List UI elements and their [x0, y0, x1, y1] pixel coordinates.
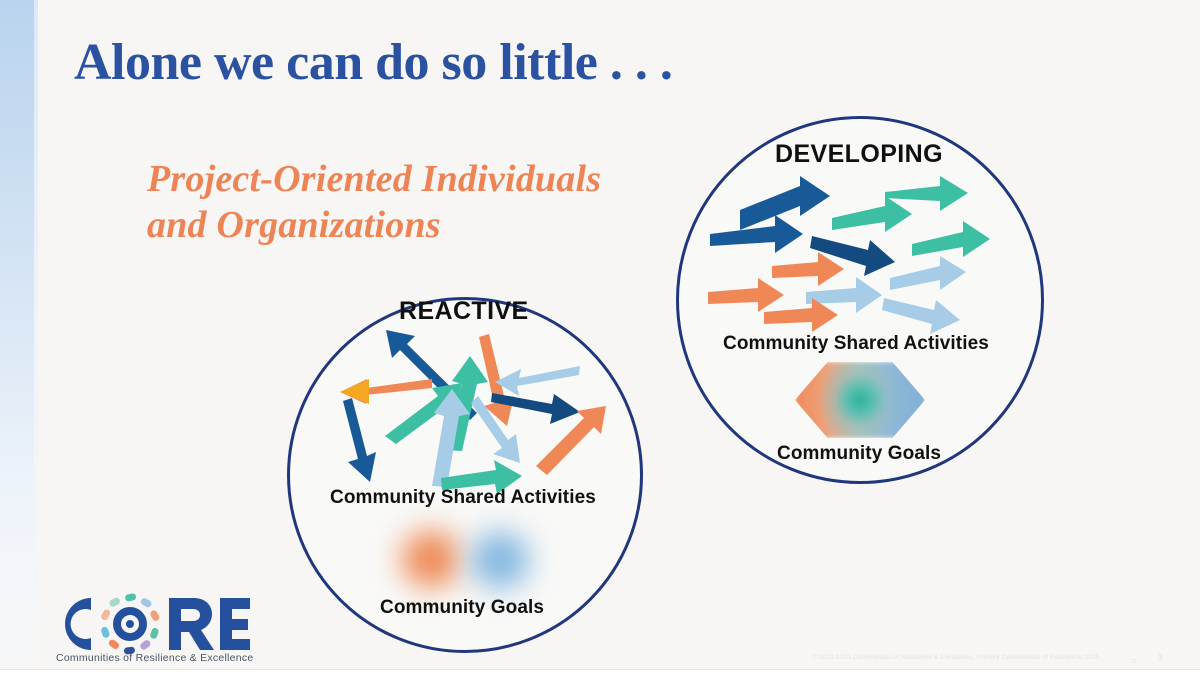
developing-activities-label: Community Shared Activities: [723, 333, 989, 355]
slide-canvas: Alone we can do so little . . . Project-…: [0, 0, 1200, 674]
subtitle-text: Project-Oriented Individuals and Organiz…: [147, 156, 601, 249]
reactive-goals-label: Community Goals: [380, 597, 544, 619]
reactive-activities-label: Community Shared Activities: [330, 487, 596, 509]
reactive-title: REACTIVE: [399, 297, 529, 326]
left-accent-strip: [0, 0, 34, 674]
left-accent-strip-edge: [34, 0, 38, 674]
footer-copyright: © 2023-2025 Communities of Resilience & …: [812, 654, 1099, 661]
core-logo-mark: [100, 593, 160, 655]
page-title: Alone we can do so little . . .: [74, 33, 672, 92]
page-number: 3: [1158, 653, 1162, 662]
reactive-goal-blob-orange: [394, 524, 468, 594]
home-icon[interactable]: ⌂: [1131, 655, 1136, 665]
developing-goals-label: Community Goals: [777, 443, 941, 465]
reactive-goal-blob-blue: [464, 526, 536, 594]
core-logo-tagline: Communities of Resilience & Excellence: [56, 652, 253, 664]
footer-bar: [0, 669, 1200, 674]
developing-title: DEVELOPING: [775, 140, 943, 169]
